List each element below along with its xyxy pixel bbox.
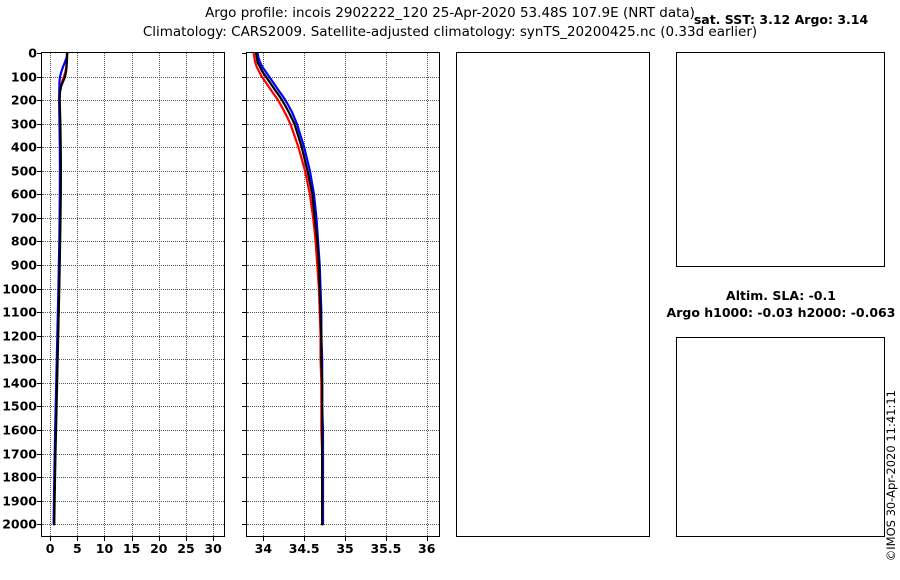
- x-tick-label: 10: [96, 541, 113, 556]
- sla-map-title-line1: Altim. SLA: -0.1: [726, 288, 836, 303]
- x-tick-label: 25: [177, 541, 194, 556]
- sst-map-panel: [676, 52, 885, 267]
- x-tick-label: 20: [150, 541, 167, 556]
- profile-curves: [42, 53, 224, 536]
- depth-tick-label: 700: [11, 210, 37, 225]
- series-climatology: [254, 53, 323, 524]
- copyright-label: ©IMOS 30-Apr-2020 11:41:11: [884, 390, 898, 561]
- depth-tick-label: 1800: [2, 470, 37, 485]
- depth-tick-label: 0: [28, 46, 37, 61]
- temperature-profile-panel: 0510152025300100200300400500600700800900…: [41, 52, 225, 537]
- depth-tick-label: 800: [11, 234, 37, 249]
- x-tick-label: 0: [46, 541, 55, 556]
- sst-map-title: sat. SST: 3.12 Argo: 3.14: [694, 12, 868, 27]
- page-title-line1: Argo profile: incois 2902222_120 25-Apr-…: [205, 5, 695, 21]
- sla-map-panel: [676, 337, 885, 537]
- x-tick-label: 35.5: [370, 541, 401, 556]
- depth-tick-label: 200: [11, 93, 37, 108]
- depth-tick-label: 1000: [2, 281, 37, 296]
- depth-tick-label: 1200: [2, 328, 37, 343]
- depth-tick-label: 1400: [2, 375, 37, 390]
- depth-tick-label: 2000: [2, 517, 37, 532]
- depth-tick-label: 500: [11, 163, 37, 178]
- x-tick-label: 15: [123, 541, 140, 556]
- depth-tick-label: 400: [11, 140, 37, 155]
- depth-tick-label: 1100: [2, 305, 37, 320]
- x-tick-label: 36: [418, 541, 435, 556]
- depth-tick-label: 300: [11, 116, 37, 131]
- depth-tick-label: 1700: [2, 446, 37, 461]
- depth-tick-label: 600: [11, 187, 37, 202]
- difference-profile-panel: [456, 52, 650, 537]
- salinity-profile-panel: 3434.53535.536: [246, 52, 440, 537]
- depth-tick-label: 1300: [2, 352, 37, 367]
- depth-tick-label: 1600: [2, 422, 37, 437]
- x-tick-label: 35: [336, 541, 353, 556]
- depth-tick-label: 100: [11, 69, 37, 84]
- x-tick-label: 30: [204, 541, 221, 556]
- sla-map-title-line2: Argo h1000: -0.03 h2000: -0.063: [667, 305, 896, 320]
- depth-tick-label: 1500: [2, 399, 37, 414]
- x-tick-label: 34: [255, 541, 272, 556]
- x-tick-label: 5: [73, 541, 82, 556]
- page-title-line2: Climatology: CARS2009. Satellite-adjuste…: [143, 24, 757, 40]
- profile-curves: [247, 53, 439, 536]
- x-tick-label: 34.5: [289, 541, 320, 556]
- depth-tick-label: 1900: [2, 493, 37, 508]
- series-argo: [54, 53, 67, 524]
- depth-tick-label: 900: [11, 258, 37, 273]
